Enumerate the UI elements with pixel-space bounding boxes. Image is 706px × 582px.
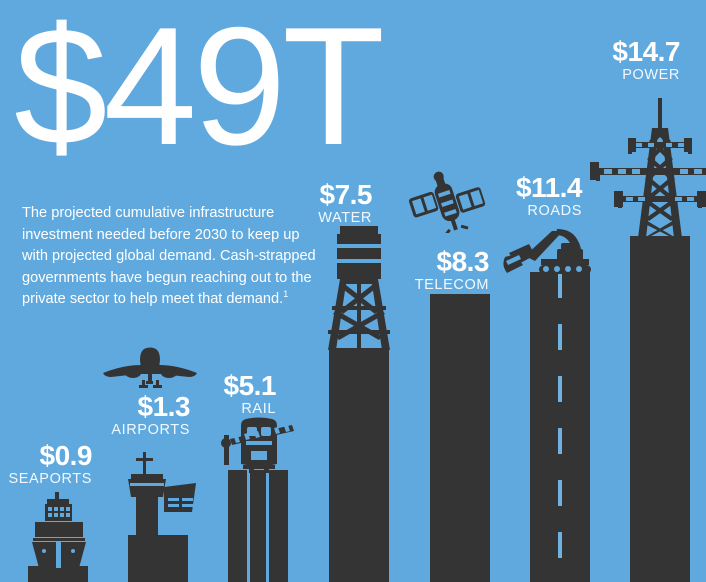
label-airports: $1.3 AIRPORTS [98,392,190,438]
bar-airports [128,535,188,582]
bar-telecom [430,294,490,582]
value-roads: $11.4 [494,173,582,203]
label-power: $14.7 POWER [592,37,680,83]
intro-text: The projected cumulative infrastructure … [22,205,316,307]
value-water: $7.5 [292,180,372,210]
label-water: $7.5 WATER [292,180,372,226]
bar-rail [228,470,288,582]
intro-paragraph: The projected cumulative infrastructure … [22,203,322,311]
bar-power [630,236,690,582]
category-water: WATER [292,210,372,226]
ship-icon [24,492,94,568]
bar-water [329,348,389,582]
satellite-icon [407,171,489,233]
page-title: $49T [14,2,381,170]
bar-roads [530,272,590,582]
bar-seaports [28,566,88,582]
value-telecom: $8.3 [395,247,489,277]
footnote-marker: 1 [283,289,288,299]
power-pylon-icon [578,98,706,238]
value-power: $14.7 [592,37,680,67]
category-power: POWER [592,67,680,83]
value-seaports: $0.9 [0,441,92,471]
airplane-icon [101,347,199,389]
label-rail: $5.1 RAIL [198,371,276,417]
label-seaports: $0.9 SEAPORTS [0,441,92,487]
value-airports: $1.3 [98,392,190,422]
value-rail: $5.1 [198,371,276,401]
rail-track-lines [228,470,288,582]
label-telecom: $8.3 TELECOM [395,247,489,293]
infographic-canvas: $49T The projected cumulative infrastruc… [0,0,706,582]
train-icon [216,417,296,473]
category-telecom: TELECOM [395,277,489,293]
category-seaports: SEAPORTS [0,471,92,487]
road-center-line [530,272,590,582]
category-rail: RAIL [198,401,276,417]
category-roads: ROADS [494,203,582,219]
category-airports: AIRPORTS [98,422,190,438]
control-tower-icon [122,452,200,536]
water-tower-icon [322,226,396,350]
label-roads: $11.4 ROADS [494,173,582,219]
